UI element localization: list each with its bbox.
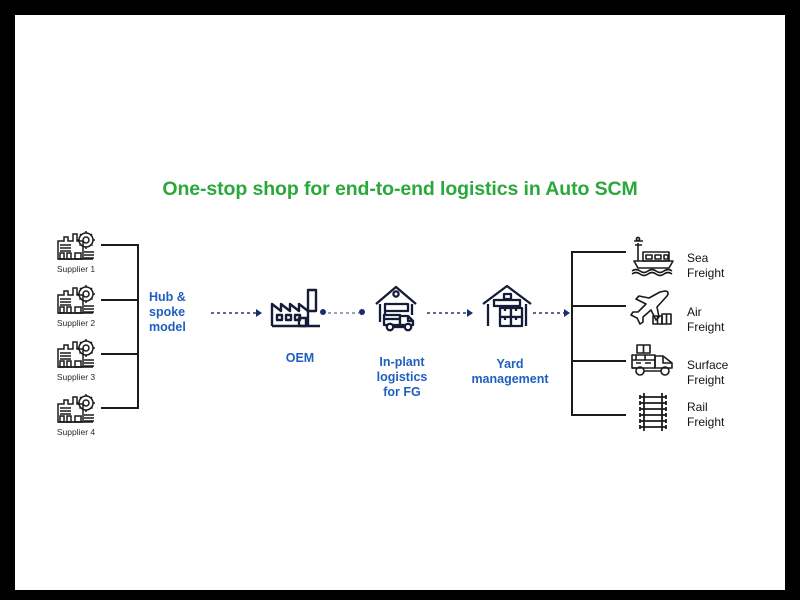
freight-label-surface: Surface Freight [687, 358, 785, 388]
dotted-line [211, 312, 256, 314]
bracket-spine [137, 244, 139, 409]
warehouse-truck-icon [369, 277, 431, 335]
container-ship-icon [628, 235, 678, 277]
label-line: Yard [455, 357, 565, 372]
diagram-canvas: One-stop shop for end-to-end logistics i… [15, 15, 785, 590]
label-line: logistics [363, 370, 441, 385]
label-line: management [455, 372, 565, 387]
arrow-head-icon [564, 309, 570, 317]
label-line: Air [687, 305, 777, 320]
stage-label-oem: OEM [265, 351, 335, 366]
supplier-label: Supplier 1 [41, 264, 111, 274]
factory-gear-icon [52, 281, 100, 317]
bracket-arm-3 [571, 360, 626, 362]
factory-gear-icon [52, 335, 100, 371]
freight-label-air: Air Freight [687, 305, 777, 335]
bracket-spine [571, 251, 573, 416]
label-line: Freight [687, 373, 785, 388]
cargo-truck-icon [628, 339, 678, 381]
label-line: Hub & [149, 290, 211, 305]
label-line: Freight [687, 320, 777, 335]
factory-gear-icon [52, 227, 100, 263]
bracket-arm-4 [571, 414, 626, 416]
label-line: Rail [687, 400, 777, 415]
label-line: Freight [687, 415, 777, 430]
slide-frame: One-stop shop for end-to-end logistics i… [15, 15, 785, 590]
label-line: Surface [687, 358, 785, 373]
dotted-line [533, 312, 566, 314]
airplane-cargo-icon [628, 286, 678, 330]
dotted-line [328, 312, 359, 314]
bracket-arm-4 [101, 407, 138, 409]
warehouse-boxes-icon [477, 279, 539, 335]
label-line: spoke [149, 305, 211, 320]
connector-dot-icon [320, 309, 326, 315]
supplier-label: Supplier 4 [41, 427, 111, 437]
dotted-line [427, 312, 467, 314]
label-line: for FG [363, 385, 441, 400]
arrow-head-icon [256, 309, 262, 317]
supplier-label: Supplier 2 [41, 318, 111, 328]
bracket-arm-2 [101, 299, 138, 301]
stage-label-yard-management: Yard management [455, 357, 565, 387]
supplier-label: Supplier 3 [41, 372, 111, 382]
bracket-arm-1 [571, 251, 626, 253]
stage-label-hub-spoke: Hub & spoke model [149, 290, 211, 334]
arrow-head-icon [467, 309, 473, 317]
label-line: In-plant [363, 355, 441, 370]
page-title: One-stop shop for end-to-end logistics i… [15, 178, 785, 201]
connector-dot-icon [359, 309, 365, 315]
bracket-arm-2 [571, 305, 626, 307]
freight-label-rail: Rail Freight [687, 400, 777, 430]
label-line: Freight [687, 266, 777, 281]
factory-icon [267, 281, 333, 333]
label-line: Sea [687, 251, 777, 266]
freight-label-sea: Sea Freight [687, 251, 777, 281]
label-line: model [149, 320, 211, 335]
bracket-arm-3 [101, 353, 138, 355]
bracket-arm-1 [101, 244, 138, 246]
stage-label-inplant-logistics: In-plant logistics for FG [363, 355, 441, 399]
factory-gear-icon [52, 390, 100, 426]
railway-track-icon [628, 390, 678, 434]
